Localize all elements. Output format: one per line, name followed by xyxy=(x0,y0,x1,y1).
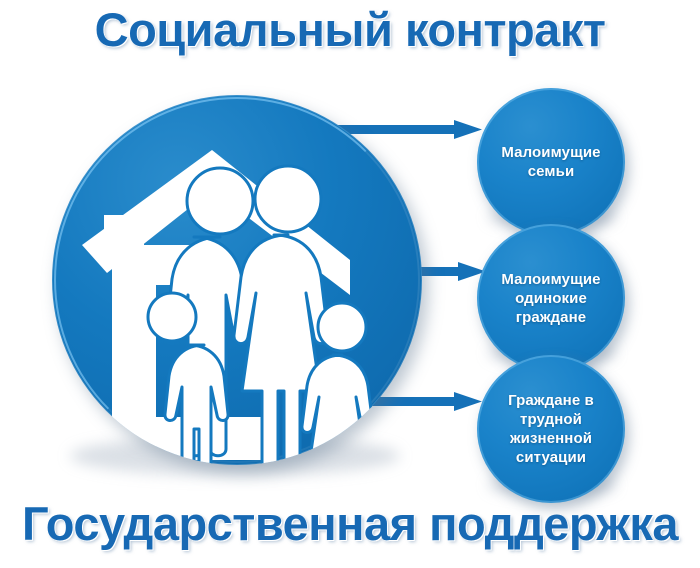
node-circle-3[interactable]: Граждане в трудной жизненной ситуации xyxy=(477,355,625,503)
node-2-label: Малоимущие одинокие граждане xyxy=(487,270,615,327)
node-3-label: Граждане в трудной жизненной ситуации xyxy=(487,391,615,467)
central-circle[interactable] xyxy=(52,95,422,465)
node-circle-2[interactable]: Малоимущие одинокие граждане xyxy=(477,224,625,372)
infographic-canvas: Социальный контракт xyxy=(0,0,700,568)
page-title-bottom: Государственная поддержка xyxy=(0,496,700,552)
house-family-icon xyxy=(52,95,422,465)
node-circle-1[interactable]: Малоимущие семьи xyxy=(477,88,625,236)
node-1-label: Малоимущие семьи xyxy=(487,143,615,181)
page-title-top: Социальный контракт xyxy=(0,2,700,58)
